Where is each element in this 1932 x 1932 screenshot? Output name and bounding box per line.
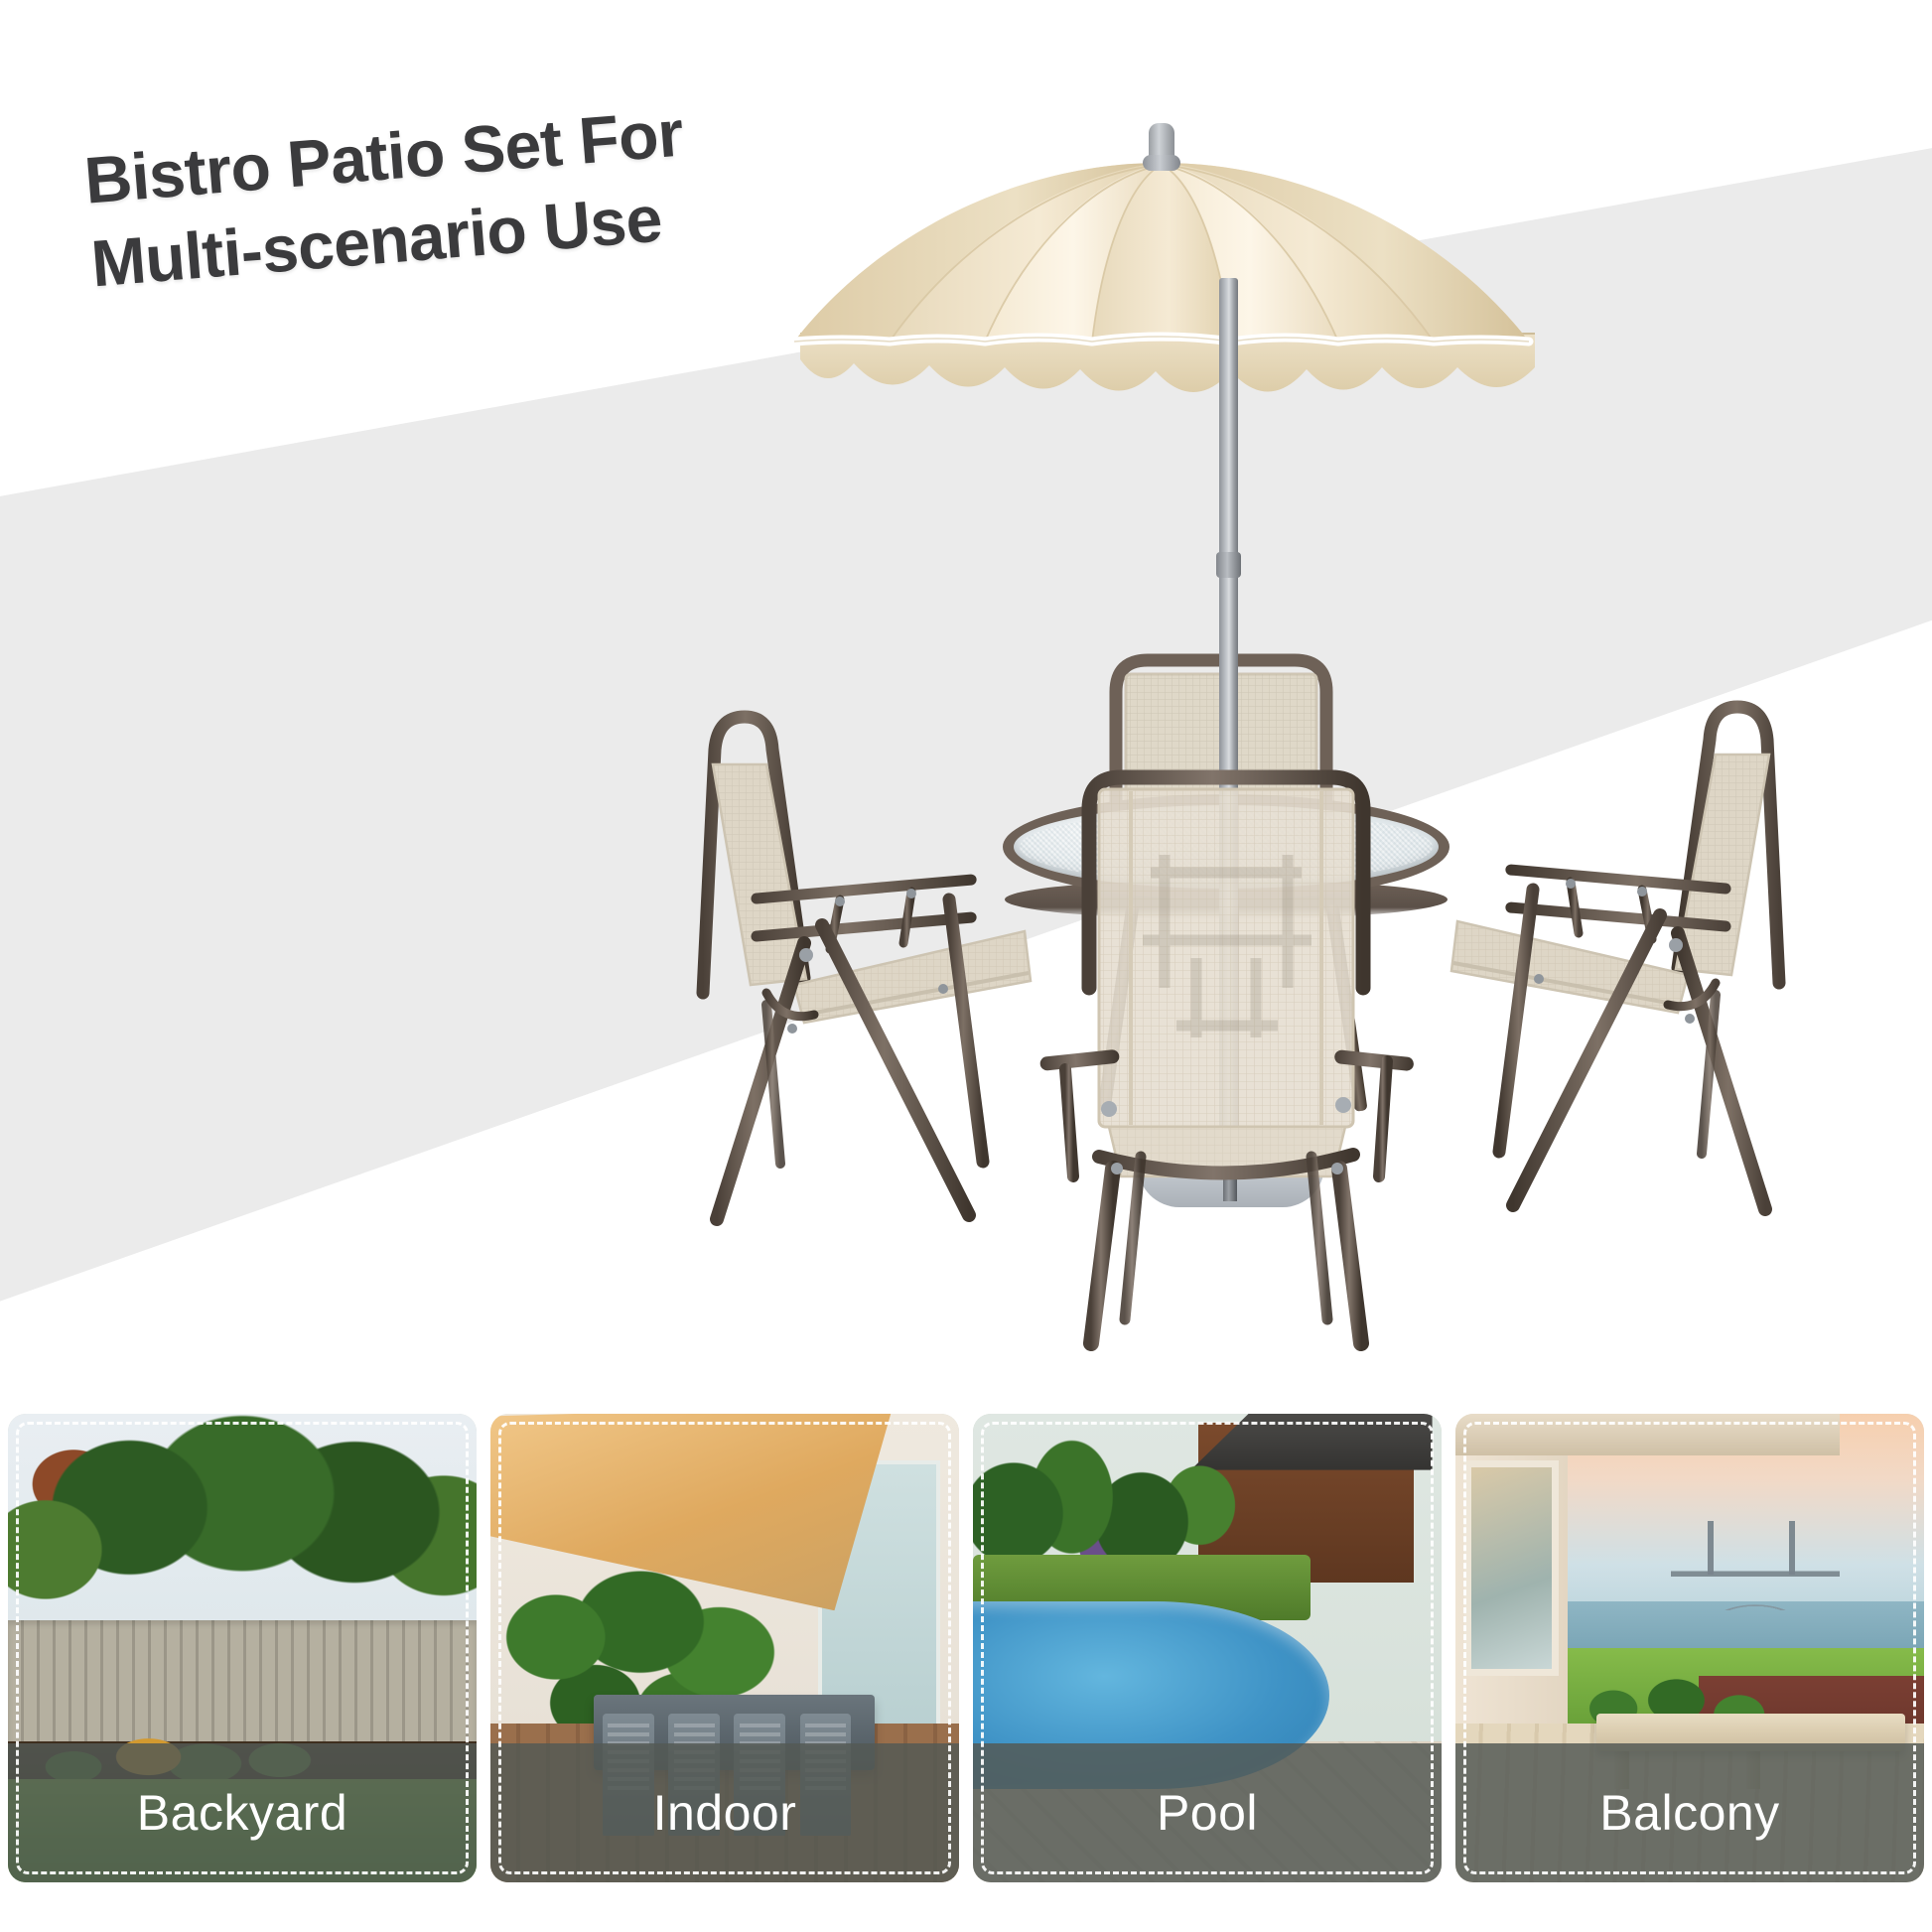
scenario-caption-bar: Balcony [1455, 1743, 1924, 1882]
chair-right [1410, 685, 1827, 1241]
chair-center-front [1047, 660, 1405, 1355]
scenario-card-pool[interactable]: Pool [973, 1414, 1442, 1882]
scenario-card-backyard[interactable]: Backyard [8, 1414, 477, 1882]
umbrella-pole-joint [1216, 552, 1241, 578]
scenario-caption-bar: Indoor [490, 1743, 959, 1882]
scenario-label-balcony: Balcony [1599, 1784, 1779, 1842]
umbrella-canopy [764, 161, 1559, 367]
scenario-caption-bar: Backyard [8, 1743, 477, 1882]
scenario-card-indoor[interactable]: Indoor [490, 1414, 959, 1882]
patio-umbrella [764, 139, 1559, 397]
scenario-caption-bar: Pool [973, 1743, 1442, 1882]
scenario-card-balcony[interactable]: Balcony [1455, 1414, 1924, 1882]
scenario-label-backyard: Backyard [137, 1784, 347, 1842]
scenario-thumbnail-strip: Backyard Indoor [0, 1414, 1932, 1910]
scenario-label-indoor: Indoor [653, 1784, 797, 1842]
umbrella-finial-cap [1143, 155, 1180, 171]
scenario-label-pool: Pool [1157, 1784, 1258, 1842]
product-banner: Bistro Patio Set For Multi-scenario Use [0, 0, 1932, 1932]
